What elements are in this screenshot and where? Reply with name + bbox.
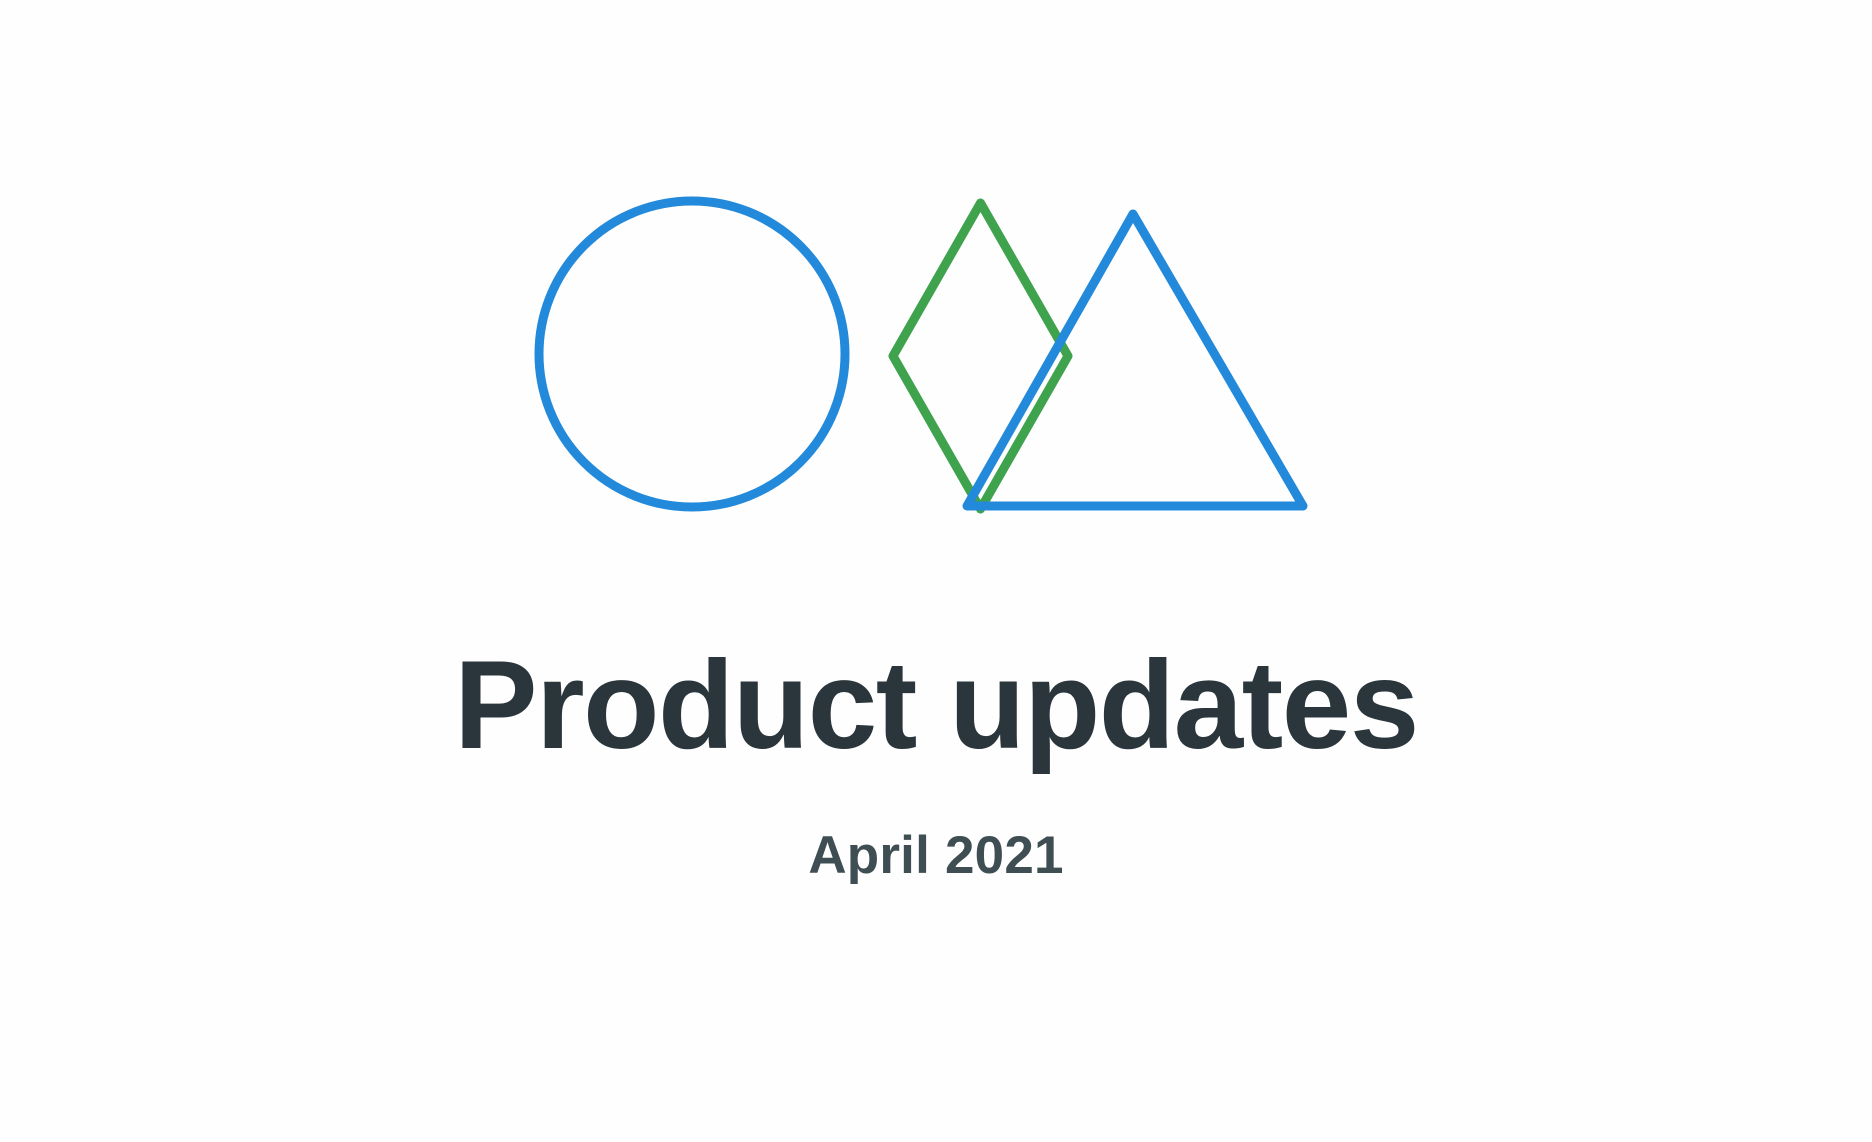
- headline-block: Product updates April 2021: [0, 640, 1872, 885]
- product-updates-slide: Product updates April 2021: [0, 0, 1872, 1142]
- logo-svg-canvas: [0, 0, 1872, 620]
- page-subtitle-date: April 2021: [0, 773, 1872, 885]
- page-title: Product updates: [0, 640, 1872, 773]
- triangle-outline-icon: [967, 214, 1303, 506]
- circle-outline-icon: [539, 201, 845, 507]
- diamond-outline-icon: [893, 203, 1068, 509]
- three-shapes-logo: [0, 0, 1872, 620]
